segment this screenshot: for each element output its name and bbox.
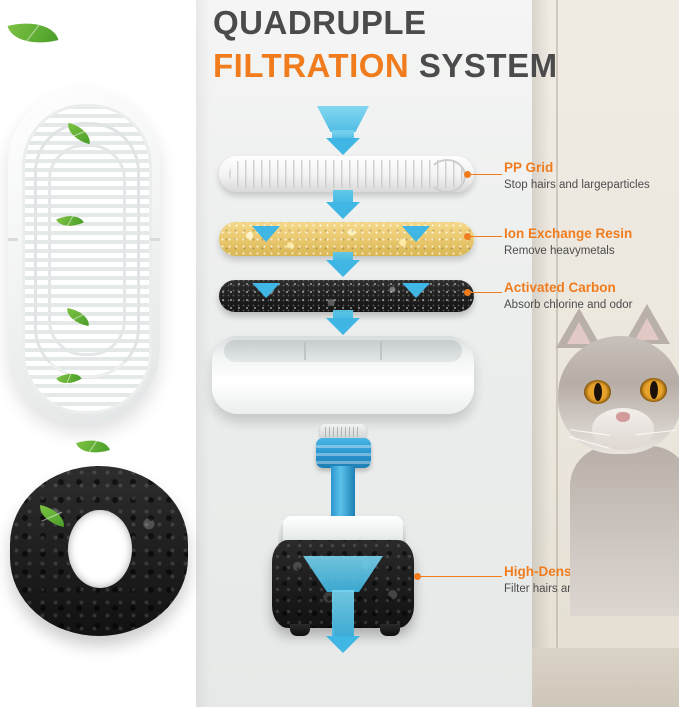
pp-grid-arc bbox=[428, 159, 466, 192]
callout-lead-pp-grid bbox=[470, 174, 502, 175]
arrow-head-3 bbox=[326, 260, 360, 277]
arrow-head-2 bbox=[326, 202, 360, 219]
sponge-foot-left bbox=[290, 624, 310, 636]
callout-pp-grid: PP Grid Stop hairs and largeparticles bbox=[504, 160, 650, 193]
resin-arrow-right bbox=[401, 222, 431, 252]
collar-rib-1 bbox=[316, 445, 371, 448]
cat-body bbox=[570, 446, 679, 616]
arrow-head-carbon-right bbox=[402, 283, 430, 298]
flow-arrow-top bbox=[325, 106, 361, 156]
arrow-head-top bbox=[326, 138, 360, 155]
headline-system-word: SYSTEM bbox=[409, 47, 557, 84]
sponge-foot-right bbox=[380, 624, 400, 636]
pump-collar bbox=[316, 438, 371, 468]
callout-title-carbon: Activated Carbon bbox=[504, 280, 633, 296]
headline-line-1: QUADRUPLE bbox=[213, 4, 673, 42]
callout-lead-resin bbox=[470, 236, 502, 237]
resin-arrow-left bbox=[251, 222, 281, 252]
callout-ion-exchange-resin: Ion Exchange Resin Remove heavymetals bbox=[504, 226, 632, 259]
carbon-arrow-right bbox=[401, 280, 431, 308]
cat-nose bbox=[616, 412, 630, 422]
arrow-head-sponge bbox=[326, 636, 360, 653]
arrow-head-resin-right bbox=[402, 226, 430, 242]
arrow-head-4 bbox=[326, 318, 360, 335]
cat-pupil-left bbox=[594, 383, 602, 401]
arrow-head-resin-left bbox=[252, 226, 280, 242]
flow-arrow-3 bbox=[327, 252, 359, 282]
sponge-foam-photo bbox=[10, 466, 188, 636]
arrow-head-carbon-left bbox=[252, 283, 280, 298]
callout-title-resin: Ion Exchange Resin bbox=[504, 226, 632, 242]
cat-ear-right-inner bbox=[635, 318, 659, 340]
flow-arrow-sponge bbox=[325, 556, 361, 666]
arrow-shaft-sponge bbox=[332, 590, 354, 638]
cat-eye-left bbox=[584, 380, 611, 404]
callout-subtitle-resin: Remove heavymetals bbox=[504, 244, 632, 259]
collar-rib-2 bbox=[316, 453, 371, 456]
tray-inner-recess bbox=[224, 340, 462, 362]
headline-line-2: FILTRATION SYSTEM bbox=[213, 46, 673, 86]
carbon-arrow-left bbox=[251, 280, 281, 308]
cartridge-slot-right bbox=[150, 238, 160, 241]
foam-center-hole bbox=[68, 510, 132, 588]
headline: QUADRUPLE FILTRATION SYSTEM bbox=[213, 4, 673, 86]
callout-lead-sponge bbox=[420, 576, 502, 577]
flow-arrow-2 bbox=[327, 190, 359, 224]
callout-subtitle-pp-grid: Stop hairs and largeparticles bbox=[504, 178, 650, 193]
tray-divider-1 bbox=[304, 342, 306, 360]
layer-filter-tray bbox=[212, 336, 474, 414]
cat-ear-left-inner bbox=[567, 322, 591, 344]
tray-divider-2 bbox=[380, 342, 382, 360]
cat-photo bbox=[540, 300, 679, 600]
layer-pp-grid bbox=[219, 156, 474, 192]
pump-cap-texture bbox=[325, 427, 361, 437]
cat-pupil-right bbox=[650, 381, 658, 399]
cartridge-slot-left bbox=[8, 238, 18, 241]
center-panel-shadow bbox=[196, 0, 210, 707]
callout-title-pp-grid: PP Grid bbox=[504, 160, 650, 176]
product-infographic: QUADRUPLE FILTRATION SYSTEM bbox=[0, 0, 679, 707]
headline-filtration-word: FILTRATION bbox=[213, 47, 409, 84]
collar-rib-3 bbox=[316, 461, 371, 464]
callout-lead-carbon bbox=[470, 292, 502, 293]
floor-strip bbox=[532, 648, 679, 707]
cat-eye-right bbox=[640, 378, 667, 402]
